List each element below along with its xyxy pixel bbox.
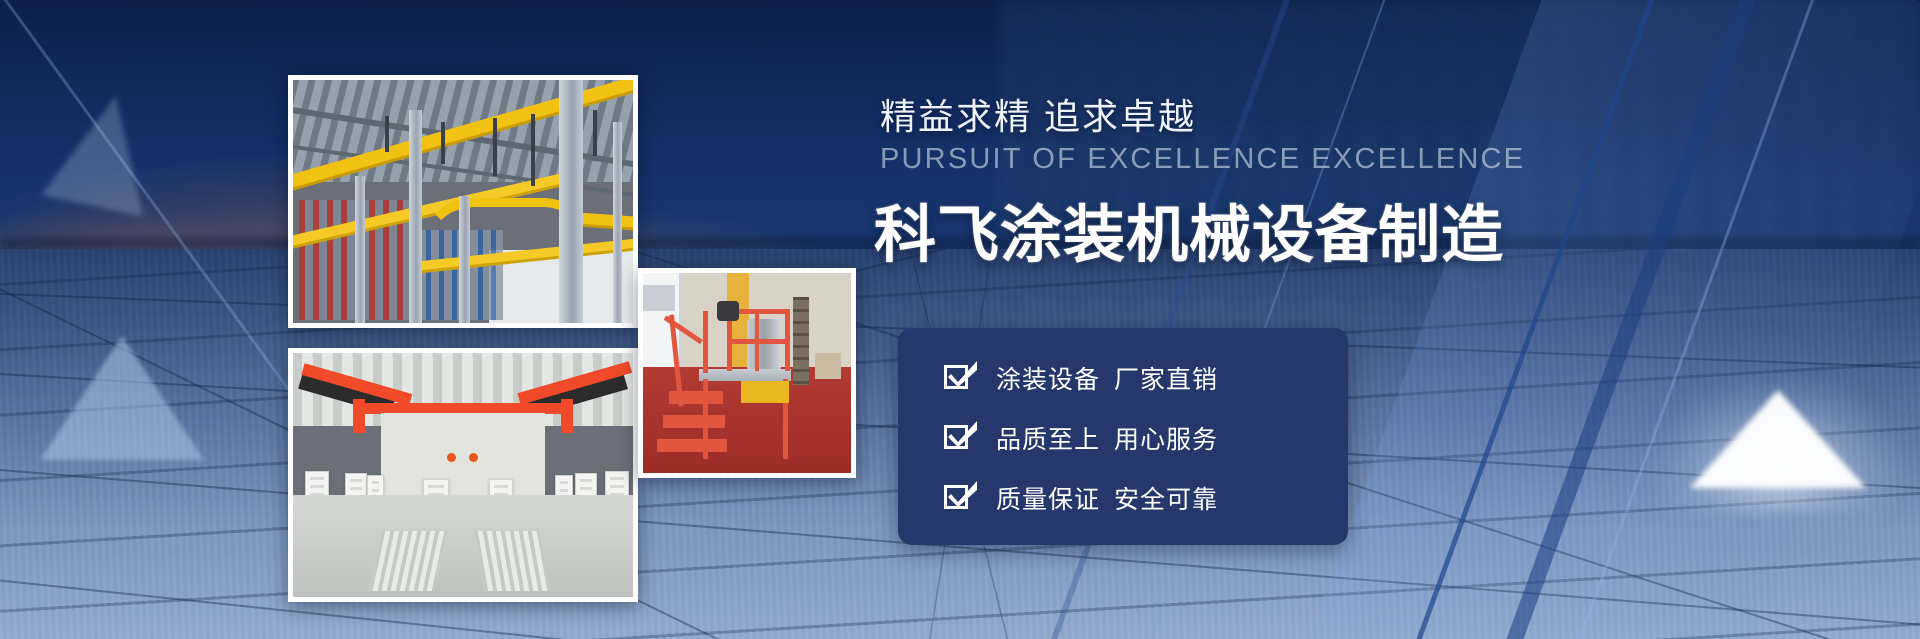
slogan-block: 精益求精 追求卓越 PURSUIT OF EXCELLENCE EXCELLEN… xyxy=(880,96,1500,176)
photo-card-spray-booth xyxy=(288,348,638,602)
feature-text-part2: 安全可靠 xyxy=(1114,486,1218,514)
stair-step xyxy=(663,415,725,428)
feature-item: 涂装设备厂家直销 xyxy=(944,354,1348,402)
platform-deck xyxy=(699,369,791,381)
photo-card-red-platform xyxy=(638,268,856,478)
feature-text-part2: 用心服务 xyxy=(1114,426,1218,454)
feature-text: 质量保证安全可靠 xyxy=(996,480,1218,516)
black-fixture xyxy=(717,301,739,321)
feature-list-box: 涂装设备厂家直销 品质至上用心服务 质量保证安全可靠 xyxy=(898,328,1348,545)
platform-rail xyxy=(755,309,759,371)
conveyor-hanger xyxy=(593,110,597,156)
checkbox-checked-icon xyxy=(944,483,974,513)
photo-overhead-conveyor-line xyxy=(293,80,633,323)
photo-spray-paint-booth xyxy=(293,353,633,597)
support-column xyxy=(459,196,470,323)
booth-floor-grate xyxy=(369,531,448,591)
support-column xyxy=(355,176,365,323)
feature-text-part1: 质量保证 xyxy=(996,486,1100,514)
feature-text-part1: 涂装设备 xyxy=(996,366,1100,394)
yellow-equipment xyxy=(741,381,789,403)
checkbox-checked-icon xyxy=(944,423,974,453)
feature-text: 品质至上用心服务 xyxy=(996,420,1218,456)
conveyor-hanger xyxy=(385,116,389,152)
checkbox-checked-icon xyxy=(944,363,974,393)
booth-floor-grate xyxy=(474,531,551,591)
stainless-tank xyxy=(747,319,781,371)
ladder xyxy=(793,297,809,385)
conveyor-hanger xyxy=(493,118,497,176)
page-title: 科飞涂装机械设备制造 xyxy=(874,184,1504,274)
stair-step xyxy=(657,439,727,452)
stair-post xyxy=(703,311,708,373)
photo-red-work-platform xyxy=(643,273,851,473)
conveyor-hanger xyxy=(441,122,445,164)
support-column xyxy=(559,80,583,323)
hero-banner: 精益求精 追求卓越 PURSUIT OF EXCELLENCE EXCELLEN… xyxy=(0,0,1920,639)
booth-beam-orange xyxy=(353,399,365,433)
booth-floor xyxy=(293,495,633,597)
conveyor-hanger xyxy=(531,114,535,186)
feature-text-part1: 品质至上 xyxy=(996,426,1100,454)
support-column xyxy=(613,122,622,323)
slogan-english: PURSUIT OF EXCELLENCE EXCELLENCE xyxy=(880,143,1500,176)
photo-card-overhead-conveyor xyxy=(288,75,638,328)
cabinet-detail xyxy=(643,285,675,311)
support-column xyxy=(409,110,422,323)
slogan-chinese: 精益求精 追求卓越 xyxy=(880,96,1500,137)
feature-item: 质量保证安全可靠 xyxy=(944,474,1348,522)
booth-beam-orange xyxy=(561,399,573,433)
feature-text: 涂装设备厂家直销 xyxy=(996,360,1218,396)
cardboard-box xyxy=(815,353,841,379)
booth-light-dot xyxy=(447,453,456,462)
booth-light-dot xyxy=(469,453,478,462)
feature-item: 品质至上用心服务 xyxy=(944,414,1348,462)
feature-text-part2: 厂家直销 xyxy=(1114,366,1218,394)
